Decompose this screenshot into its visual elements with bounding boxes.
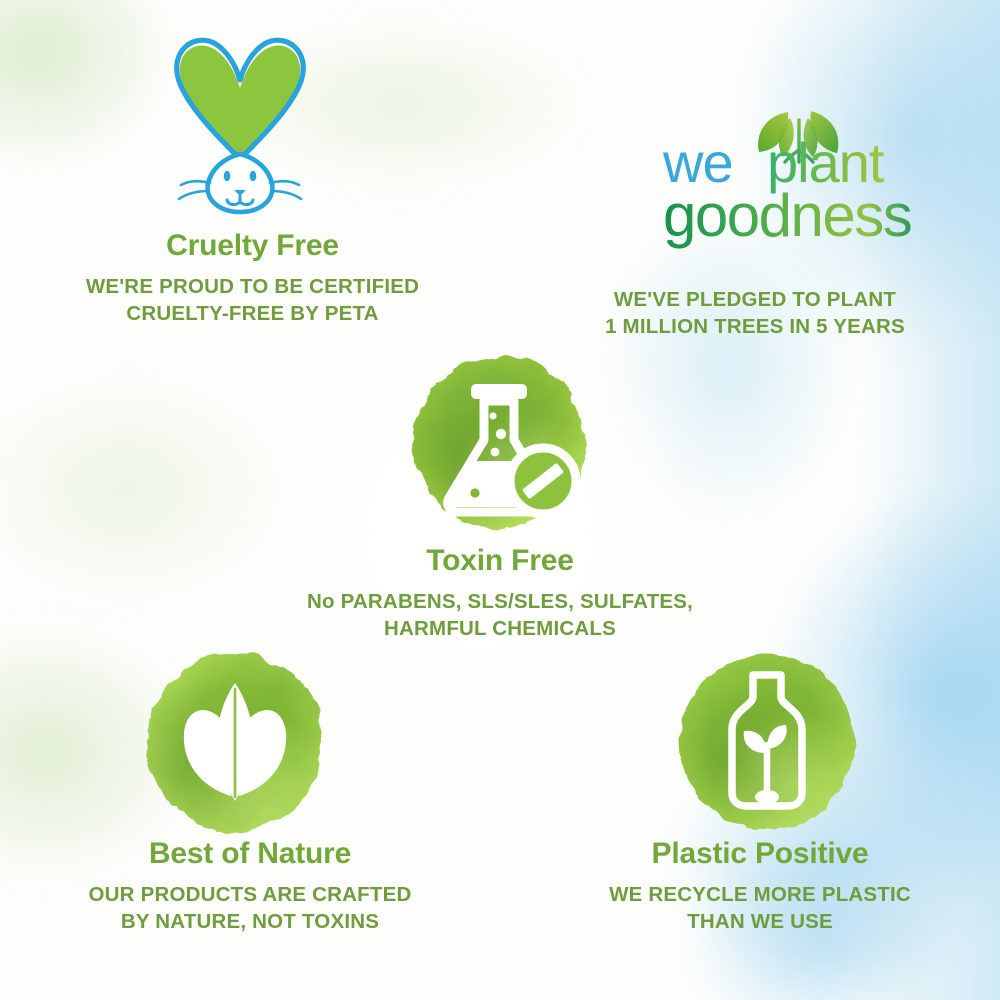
cruelty-free-description: WE'RE PROUD TO BE CERTIFIED CRUELTY-FREE… xyxy=(15,273,490,327)
toxin-free-description: No PARABENS, SLS/SLES, SULFATES, HARMFUL… xyxy=(265,588,735,642)
we-plant-goodness-line-2: 1 MILLION TREES IN 5 YEARS xyxy=(520,313,990,340)
brand-values-infographic: Cruelty Free WE'RE PROUD TO BE CERTIFIED… xyxy=(0,0,1000,1000)
we-plant-goodness-logo: we plant goodness xyxy=(655,100,945,250)
bunny-left-eye xyxy=(224,171,231,181)
cruelty-free-line-1: WE'RE PROUD TO BE CERTIFIED xyxy=(15,273,490,300)
plastic-positive-description: WE RECYCLE MORE PLASTIC THAN WE USE xyxy=(525,881,995,935)
flask-bubble-1 xyxy=(489,412,496,419)
bunny-right-eye xyxy=(250,171,257,181)
cruelty-free-heading: Cruelty Free xyxy=(15,230,490,262)
we-plant-goodness-line-1: WE'VE PLEDGED TO PLANT xyxy=(520,286,990,313)
best-of-nature-description: OUR PRODUCTS ARE CRAFTED BY NATURE, NOT … xyxy=(10,881,490,935)
sprout-soil-mound xyxy=(755,790,779,804)
badge-plastic-positive: Plastic Positive WE RECYCLE MORE PLASTIC… xyxy=(525,838,995,935)
plastic-positive-line-2: THAN WE USE xyxy=(525,908,995,935)
bottle-sprout-icon xyxy=(668,645,866,840)
toxin-free-line-2: HARMFUL CHEMICALS xyxy=(265,615,735,642)
logo-word-goodness: goodness xyxy=(663,182,911,249)
bunny-ear-heart-fill xyxy=(180,45,300,156)
flask-bubble-3 xyxy=(491,448,500,457)
cruelty-free-line-2: CRUELTY-FREE BY PETA xyxy=(15,300,490,327)
badge-toxin-free: Toxin Free No PARABENS, SLS/SLES, SULFAT… xyxy=(265,545,735,642)
flask-bubble-2 xyxy=(496,429,506,439)
we-plant-goodness-description: WE'VE PLEDGED TO PLANT 1 MILLION TREES I… xyxy=(520,286,990,340)
toxin-free-line-1: No PARABENS, SLS/SLES, SULFATES, xyxy=(265,588,735,615)
badge-we-plant-goodness: WE'VE PLEDGED TO PLANT 1 MILLION TREES I… xyxy=(520,275,990,340)
plastic-positive-heading: Plastic Positive xyxy=(525,838,995,870)
badge-cruelty-free: Cruelty Free WE'RE PROUD TO BE CERTIFIED… xyxy=(15,230,490,327)
badge-best-of-nature: Best of Nature OUR PRODUCTS ARE CRAFTED … xyxy=(10,838,490,935)
flask-no-entry-icon xyxy=(405,348,595,538)
no-entry-glyph xyxy=(510,448,576,514)
best-of-nature-line-1: OUR PRODUCTS ARE CRAFTED xyxy=(10,881,490,908)
peta-bunny-icon xyxy=(160,28,320,218)
flask-bubble-4 xyxy=(470,488,479,497)
best-of-nature-heading: Best of Nature xyxy=(10,838,490,870)
plastic-positive-line-1: WE RECYCLE MORE PLASTIC xyxy=(525,881,995,908)
three-leaves-icon xyxy=(135,645,335,840)
best-of-nature-line-2: BY NATURE, NOT TOXINS xyxy=(10,908,490,935)
toxin-free-heading: Toxin Free xyxy=(265,545,735,577)
